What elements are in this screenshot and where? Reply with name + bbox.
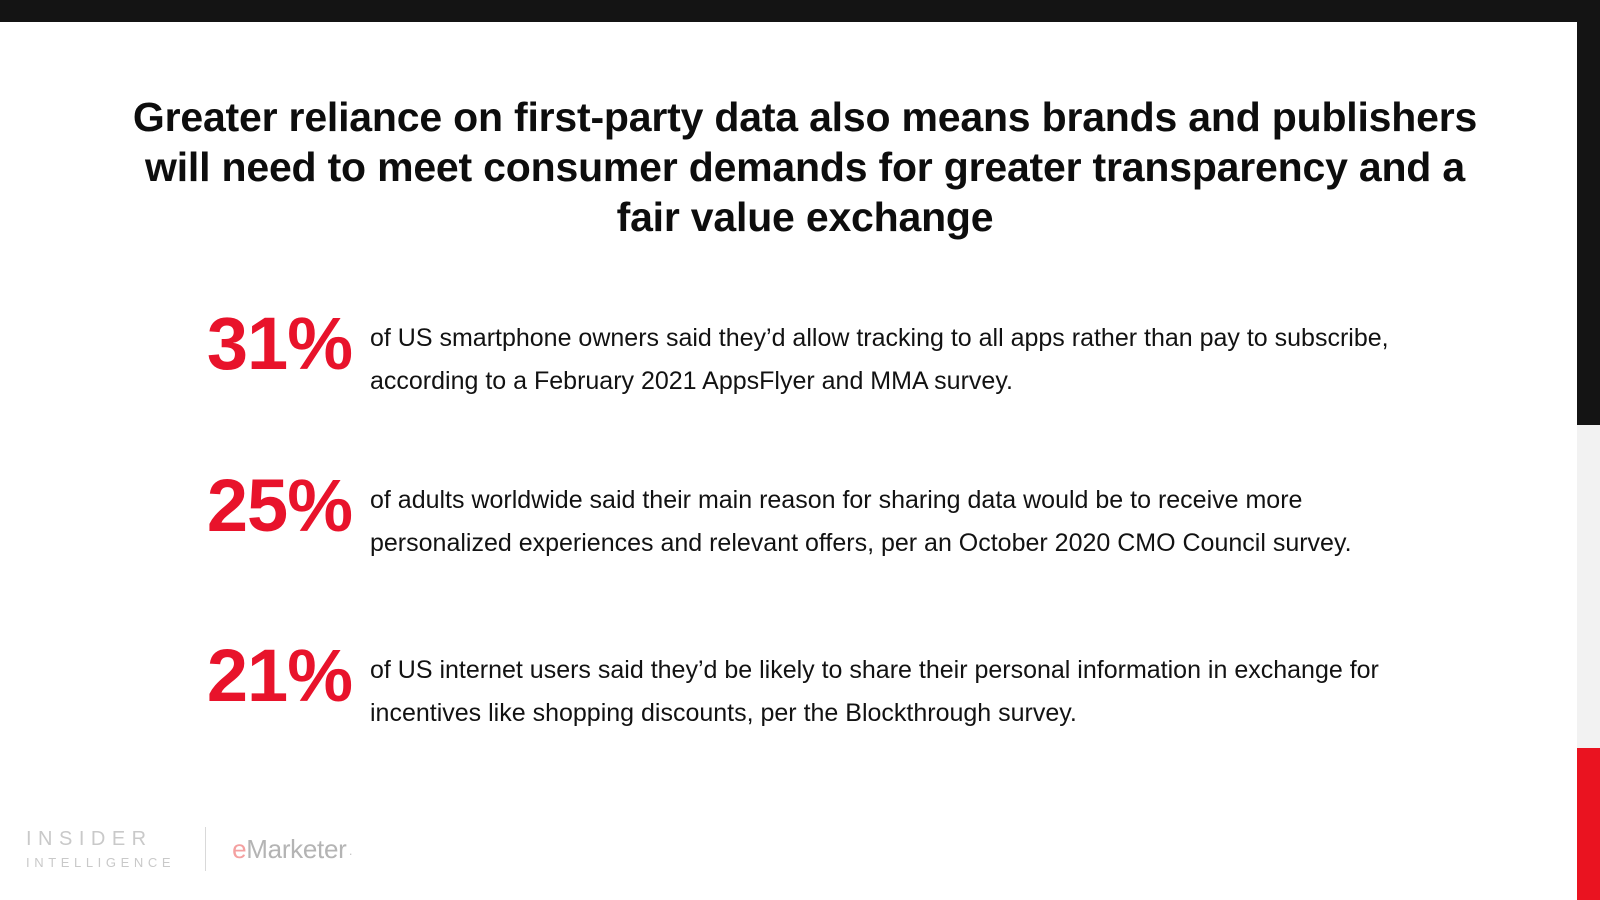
stat-description: of US smartphone owners said they’d allo…: [370, 305, 1405, 403]
emarketer-logo: eMarketer·: [232, 834, 352, 865]
top-accent-bar: [0, 0, 1600, 22]
insider-intelligence-line2: INTELLIGENCE: [26, 856, 175, 869]
stat-figure: 31%: [0, 305, 370, 383]
footer-branding: INSIDER INTELLIGENCE eMarketer·: [26, 826, 353, 872]
right-edge-dark-band: [1577, 0, 1600, 425]
stat-row: 31% of US smartphone owners said they’d …: [0, 305, 1540, 403]
logo-divider: [205, 827, 206, 871]
stat-row: 21% of US internet users said they’d be …: [0, 637, 1540, 735]
stat-row: 25% of adults worldwide said their main …: [0, 467, 1540, 565]
insider-intelligence-logo: INSIDER INTELLIGENCE: [26, 829, 175, 869]
slide-title: Greater reliance on first-party data als…: [110, 92, 1500, 242]
stat-description: of adults worldwide said their main reas…: [370, 467, 1405, 565]
right-edge-gray-band: [1577, 425, 1600, 748]
emarketer-trademark-dot: ·: [348, 846, 352, 861]
stat-figure: 25%: [0, 467, 370, 545]
emarketer-e-glyph: e: [232, 834, 246, 865]
slide-canvas: Greater reliance on first-party data als…: [0, 0, 1600, 900]
emarketer-wordmark: Marketer: [246, 834, 346, 865]
stat-description: of US internet users said they’d be like…: [370, 637, 1405, 735]
right-edge-red-band: [1577, 748, 1600, 900]
stat-figure: 21%: [0, 637, 370, 715]
insider-intelligence-line1: INSIDER: [26, 829, 175, 849]
